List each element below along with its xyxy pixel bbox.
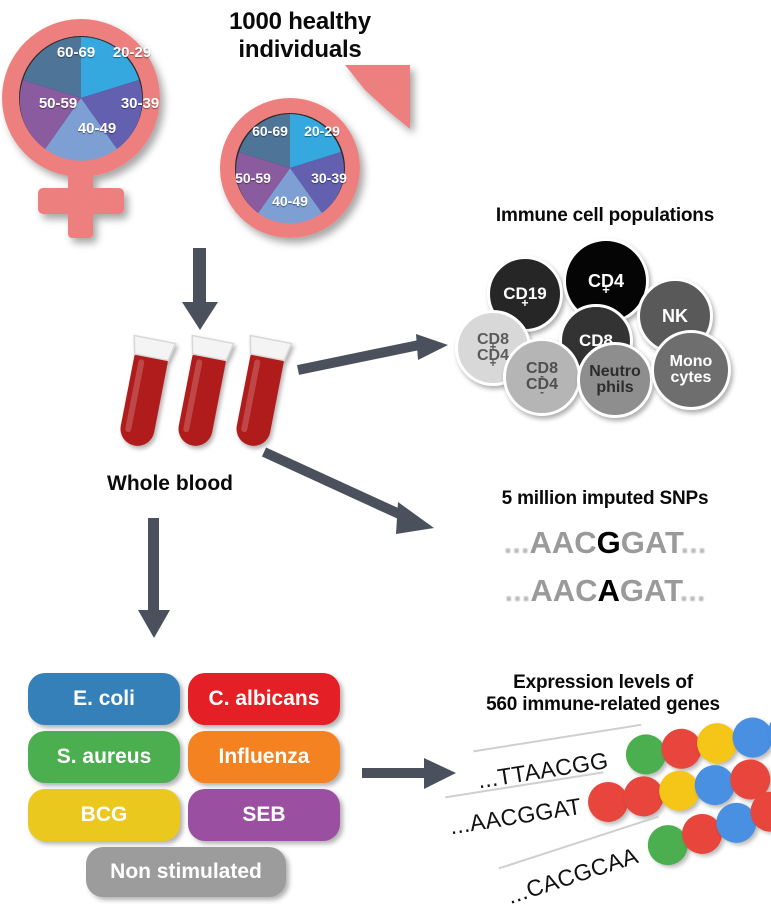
pie-label-male-60-69: 60-69 [244,123,296,139]
pie-label-male-30-39: 30-39 [303,170,355,186]
stimuli-panel: E. coliC. albicansS. aureusInfluenzaBCGS… [28,673,348,898]
immune-cell-cluster: CD19+CD4+NKCD8+CD8+CD4+CD8-CD4-Neutrophi… [455,238,755,413]
immune-cell-label: CD4+ [588,272,624,291]
stimulus-pill-bcg[interactable]: BCG [28,789,180,841]
snp-1-right: GAT [621,525,681,560]
pie-label-male-50-59: 50-59 [227,170,279,186]
snp-2-left: AAC [530,573,597,608]
stimulus-pill-influenza[interactable]: Influenza [188,731,340,783]
immune-cell-label: Monocytes [670,354,713,387]
snp-sequence-row-2: ...AACAGAT... [455,573,755,609]
section-title-genes: Expression levels of 560 immune-related … [435,672,771,717]
section-title-snp: 5 million imputed SNPs [440,488,770,510]
snp-1-prefix-dots: ... [504,525,530,560]
stimulus-label: E. coli [73,687,135,711]
immune-cell-label: CD8-CD4- [526,361,558,394]
strand-sequence-text: ...CACGCAA [504,842,642,910]
stimulus-label: Non stimulated [110,860,262,884]
strand-backbone [473,724,641,753]
stimulus-label: Influenza [218,745,309,769]
pie-label-female-60-69: 60-69 [48,44,104,61]
immune-cell-label: NK [662,307,688,326]
arrow-stimuli-to-genes [362,755,458,793]
gene-bead-blue [730,715,771,761]
stimulus-label: C. albicans [209,687,320,711]
stimulus-pill-e-coli[interactable]: E. coli [28,673,180,725]
snp-2-prefix-dots: ... [505,573,531,608]
genes-title-line1: Expression levels of [435,672,771,694]
whole-blood-label: Whole blood [70,472,270,496]
pie-label-female-30-39: 30-39 [112,95,168,112]
snp-1-suffix-dots: ... [681,525,707,560]
stimulus-label: SEB [242,803,285,827]
immune-cell-cd8-cd4: CD8-CD4- [503,338,581,416]
stimulus-pill-seb[interactable]: SEB [188,789,340,841]
snp-sequence-block: ...AACGGAT... ...AACAGAT... [455,525,755,625]
snp-2-suffix-dots: ... [680,573,706,608]
immune-cell-label: CD8+CD4+ [477,332,509,365]
arrow-blood-to-immune [296,332,456,378]
stimulus-label: BCG [81,803,128,827]
snp-2-right: GAT [620,573,680,608]
diagram-canvas: 1000 healthy individuals [0,0,771,922]
immune-cell-label: CD19+ [503,285,546,303]
stimulus-label: S. aureus [57,745,152,769]
immune-cell-neutro-phils: Neutrophils [577,342,653,418]
pie-label-female-50-59: 50-59 [30,95,86,112]
arrow-blood-to-stimuli [133,518,177,640]
immune-cell-label: Neutrophils [589,364,641,397]
pie-label-male-20-29: 20-29 [296,123,348,139]
male-symbol [205,55,420,245]
pie-label-female-40-49: 40-49 [69,120,125,137]
stimulus-pill-s-aureus[interactable]: S. aureus [28,731,180,783]
strand-sequence-text: ...AACGGAT [448,793,584,840]
snp-1-left: AAC [530,525,597,560]
pie-label-female-20-29: 20-29 [104,44,160,61]
genes-title-line2: 560 immune-related genes [435,694,771,716]
pie-label-male-40-49: 40-49 [264,193,316,209]
gene-strand-group: ...TTAACGG...AACGGAT...CACGCAA [450,735,771,915]
stimulus-pill-non-stimulated[interactable]: Non stimulated [86,847,286,897]
snp-2-variant: A [598,573,620,608]
section-title-immune: Immune cell populations [440,205,770,227]
arrow-blood-to-snps [262,448,442,548]
stimulus-pill-c-albicans[interactable]: C. albicans [188,673,340,725]
immune-cell-mono-cytes: Monocytes [651,330,731,410]
snp-1-variant: G [597,525,621,560]
snp-sequence-row-1: ...AACGGAT... [455,525,755,561]
arrow-cohort-to-blood [178,248,222,332]
